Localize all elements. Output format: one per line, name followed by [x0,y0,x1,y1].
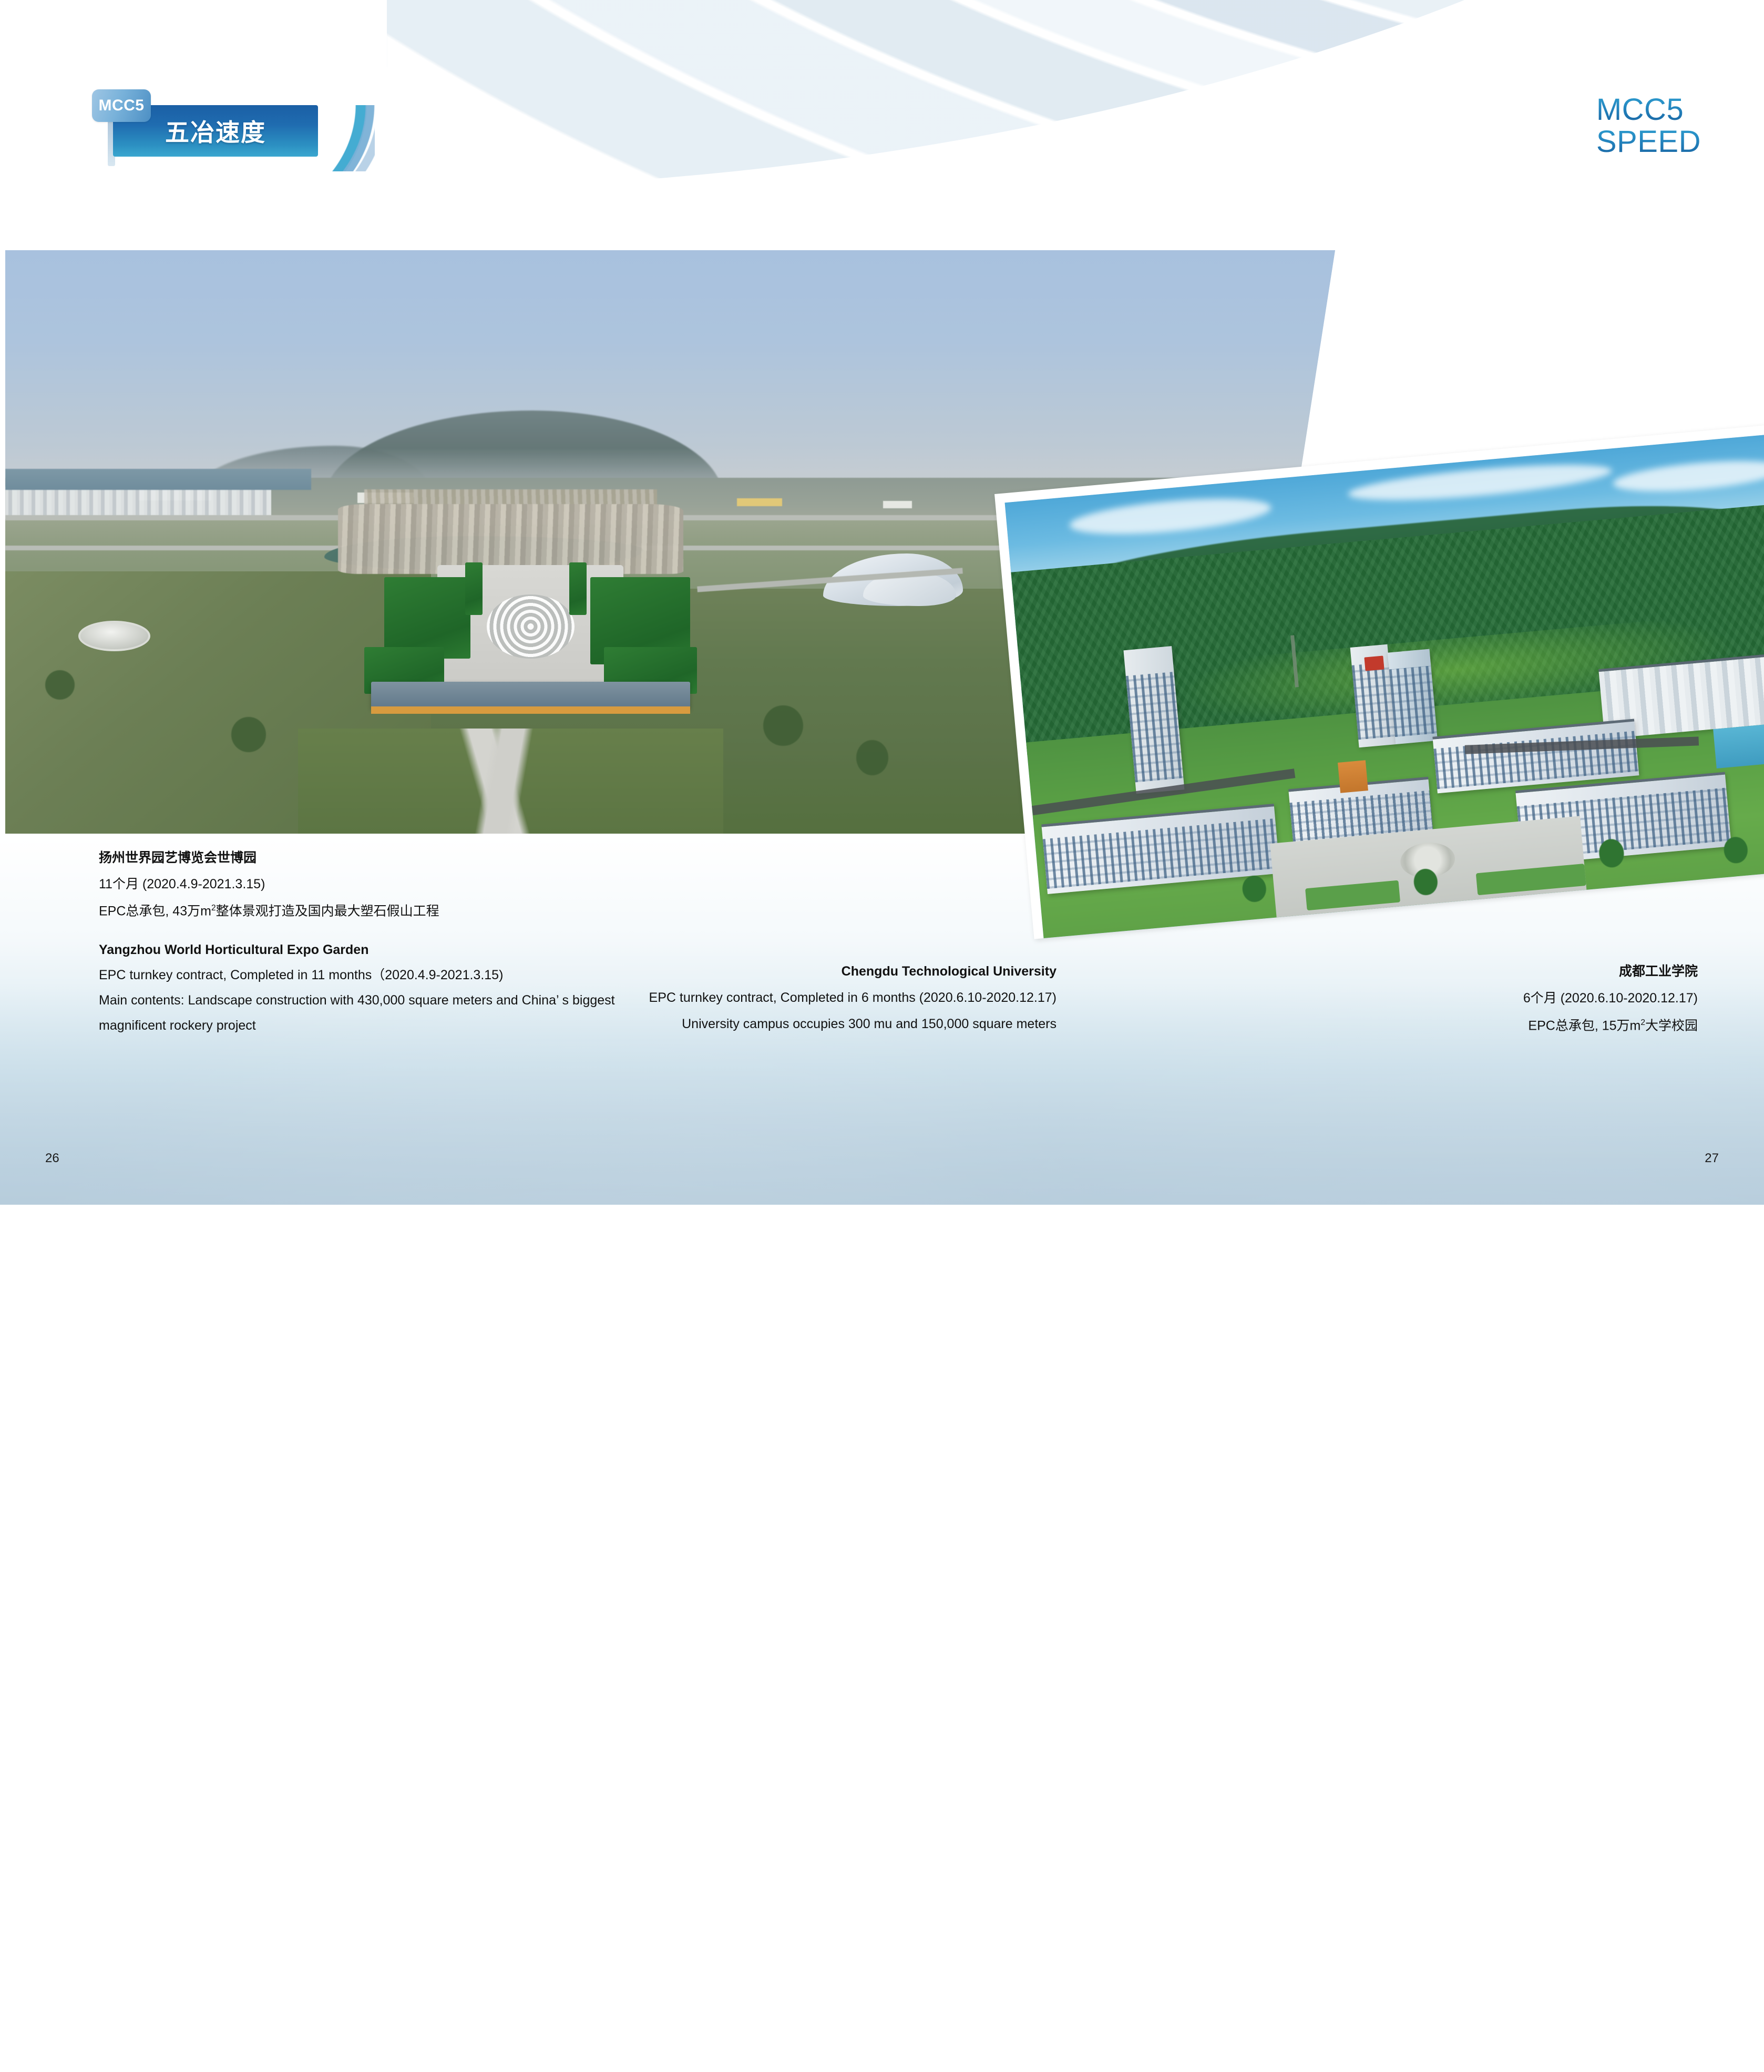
caption-scope-cn-pre: EPC总承包, 15万m [1528,1018,1640,1033]
photo-far-building [883,501,912,508]
photo-green-frame-column [465,562,483,615]
photo-sports-pool [1713,721,1764,768]
photo-orange-facade [1338,760,1368,793]
photo-red-signage [1364,655,1384,671]
photo-river [5,469,311,490]
chengdu-university-aerial-photo [1005,434,1764,938]
photo-window-grid [1389,665,1437,737]
chengdu-university-photo-frame [994,424,1764,939]
photo-tree [45,670,75,700]
photo-tree [856,740,888,775]
caption-duration-cn: 6个月 (2020.6.10-2020.12.17) [1403,992,1698,1005]
caption-scope-cn-superscript: 2 [1640,1018,1645,1027]
photo-spiral-plaza-pattern [487,594,575,659]
photo-tree [763,705,803,746]
wordmark-line-2: SPEED [1596,126,1701,158]
caption-title-en: Yangzhou World Horticultural Expo Garden [99,943,677,957]
photo-green-roof-building [384,577,470,659]
caption-scope-cn: EPC总承包, 43万m2整体景观打造及国内最大塑石假山工程 [99,904,677,918]
mcc5-speed-wordmark: MCC5 SPEED [1596,94,1701,158]
caption-line-en-2: University campus occupies 300 mu and 15… [531,1018,1057,1031]
page-number-right: 27 [1705,1151,1719,1166]
caption-scope-cn-post: 整体景观打造及国内最大塑石假山工程 [216,904,439,918]
photo-entrance-canopy [371,682,690,709]
photo-green-frame-column [569,562,587,615]
photo-entrance-paths [298,729,724,834]
photo-entrance-canopy-band [371,706,690,714]
banner-tail-decoration [312,105,375,171]
wordmark-line-1: MCC5 [1596,94,1701,126]
page-number-left: 26 [45,1151,59,1166]
photo-rockery-main [338,504,684,574]
photo-far-building [737,498,782,507]
caption-line-en-1: EPC turnkey contract, Completed in 6 mon… [531,991,1057,1004]
caption-chengdu-en: Chengdu Technological University EPC tur… [531,965,1057,1044]
photo-tree [231,717,266,752]
caption-duration-cn: 11个月 (2020.4.9-2021.3.15) [99,878,677,891]
photo-window-grid [1126,672,1184,783]
caption-title-en: Chengdu Technological University [531,965,1057,978]
caption-chengdu-cn: 成都工业学院 6个月 (2020.6.10-2020.12.17) EPC总承包… [1403,965,1698,1046]
mcc5-badge: MCC5 [92,89,151,122]
photo-dome-structure [78,621,150,651]
photo-tower-building-3 [1387,649,1437,744]
caption-scope-cn: EPC总承包, 15万m2大学校园 [1403,1019,1698,1032]
caption-title-cn: 成都工业学院 [1403,965,1698,978]
caption-title-cn: 扬州世界园艺博览会世博园 [99,852,677,865]
header-swoosh-decoration [387,0,1764,189]
caption-spacer [99,931,677,943]
caption-scope-cn-superscript: 2 [211,904,216,912]
caption-scope-cn-pre: EPC总承包, 43万m [99,904,211,918]
caption-scope-cn-post: 大学校园 [1645,1018,1698,1033]
